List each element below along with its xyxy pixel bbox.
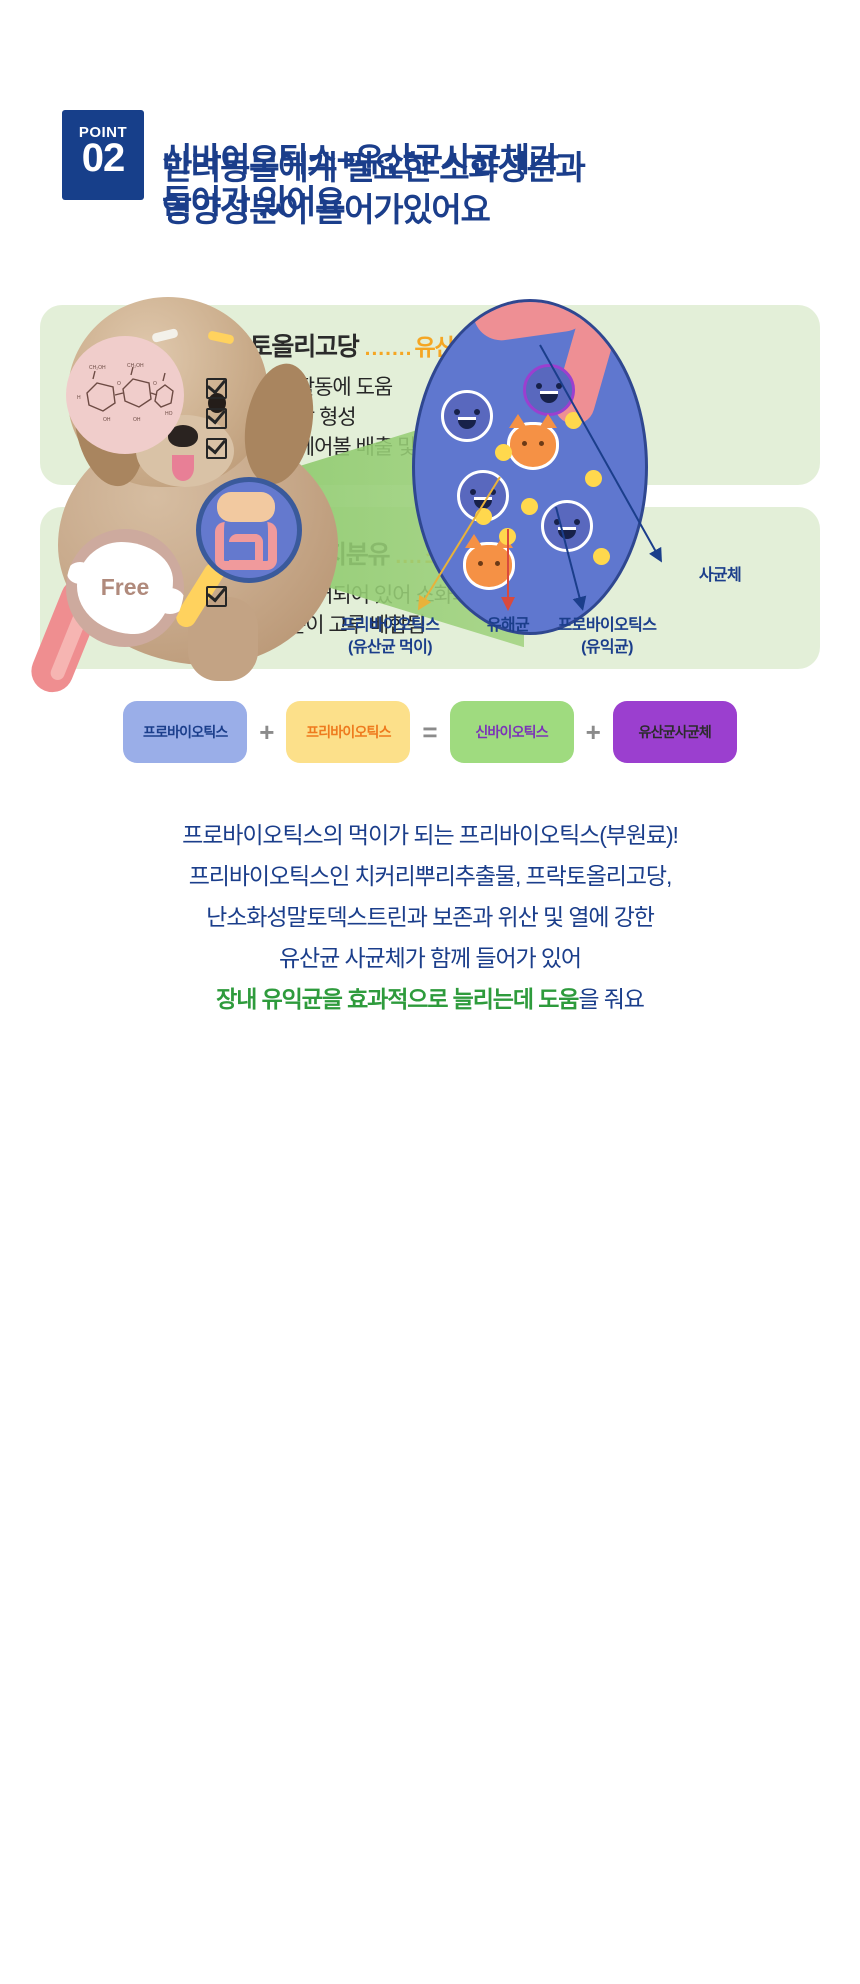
svg-text:O: O (153, 381, 157, 387)
formula-badge-synbiotics: 신바이오틱스 (450, 701, 574, 763)
label-postbiotics: 사균체 (660, 565, 780, 587)
point-02-title-line2: 들어가 있어요 (162, 181, 558, 222)
description-line-1: 프로바이오틱스의 먹이가 되는 프리바이오틱스(부원료)! (0, 815, 860, 856)
product-detail-page: POINT 02 신바이오틱스+유산균사균체가 들어가 있어요 (0, 0, 860, 1984)
point-02-title: 신바이오틱스+유산균사균체가 들어가 있어요 (162, 137, 558, 222)
check-icon (206, 408, 227, 429)
formula-badge-probiotics: 프로바이오틱스 (123, 701, 247, 763)
svg-text:OH: OH (133, 417, 141, 423)
check-icon (206, 378, 227, 399)
description-line-5: 장내 유익균을 효과적으로 늘리는데 도움을 줘요 (0, 979, 860, 1020)
description-line-3: 난소화성말토덱스트린과 보존과 위산 및 열에 강한 (0, 897, 860, 938)
fructooligosaccharide-structure-icon: CH₂OHCH₂OH HO OOH OHHO (73, 359, 177, 431)
description-paragraph: 프로바이오틱스의 먹이가 되는 프리바이오틱스(부원료)! 프리바이오틱스인 치… (0, 815, 860, 1020)
point-02-title-line1: 신바이오틱스+유산균사균체가 (162, 139, 558, 180)
formula-operator-plus-2: + (586, 717, 601, 748)
check-icon (206, 586, 227, 607)
point-02-header: POINT 02 신바이오틱스+유산균사균체가 들어가 있어요 (62, 110, 860, 249)
svg-text:HO: HO (165, 411, 173, 417)
svg-text:CH₂OH: CH₂OH (89, 365, 106, 371)
formula-badge-prebiotics: 프리바이오틱스 (286, 701, 410, 763)
check-icon (206, 438, 227, 459)
formula-badge-postbiotics: 유산균사균체 (613, 701, 737, 763)
description-line-2: 프리바이오틱스인 치커리뿌리추출물, 프락토올리고당, (0, 856, 860, 897)
free-label: Free (101, 574, 150, 601)
description-tail: 을 줘요 (578, 986, 643, 1012)
label-probiotics: 프로바이오틱스 (유익균) (512, 615, 702, 658)
description-highlight: 장내 유익균을 효과적으로 늘리는데 도움 (216, 986, 578, 1012)
point-02-badge: POINT 02 (62, 110, 144, 192)
point-number: 02 (82, 138, 125, 178)
svg-text:OH: OH (103, 417, 111, 423)
molecule-icon: CH₂OHCH₂OH HO OOH OHHO (66, 336, 184, 454)
milk-splash-icon: Free (66, 529, 184, 647)
svg-text:CH₂OH: CH₂OH (127, 363, 144, 369)
point-02-section: POINT 02 신바이오틱스+유산균사균체가 들어가 있어요 (0, 0, 860, 1020)
formula-operator-equals: = (422, 717, 437, 748)
svg-text:O: O (117, 381, 121, 387)
description-line-4: 유산균 사균체가 함께 들어가 있어 (0, 938, 860, 979)
svg-text:H: H (77, 395, 81, 401)
formula-operator-plus-1: + (259, 717, 274, 748)
formula-row: 프로바이오틱스 + 프리바이오틱스 = 신바이오틱스 + 유산균사균체 (0, 701, 860, 763)
